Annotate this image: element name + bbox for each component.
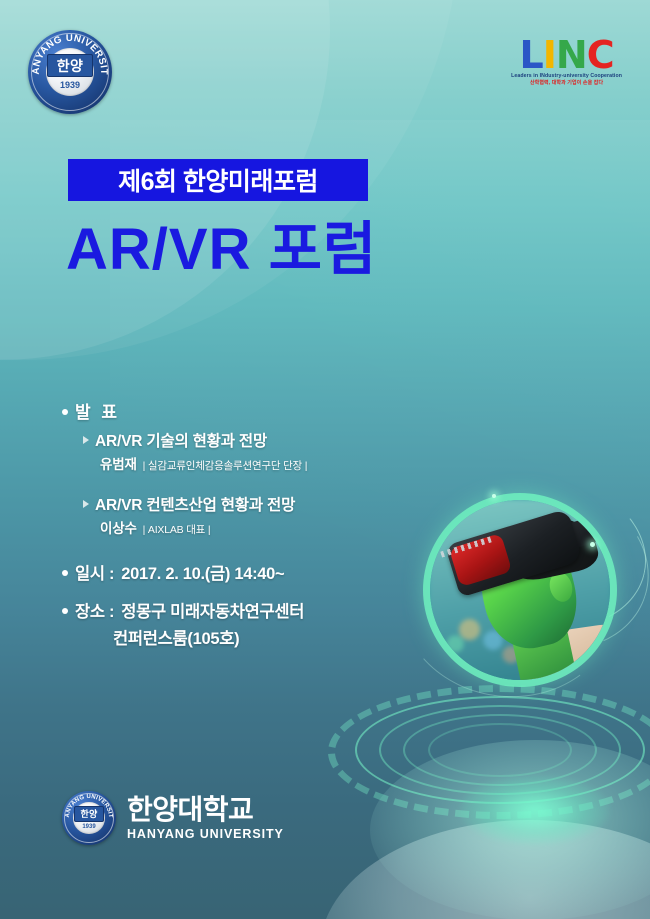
forum-edition-banner: 제6회 한양미래포럼 <box>68 159 368 201</box>
speaker-affiliation: | 실감교류인체감응솔루션연구단 단장 | <box>143 460 308 472</box>
event-datetime-label: 일시 : <box>75 560 114 584</box>
vr-headset-strap <box>538 517 599 557</box>
energy-swoosh-3 <box>391 499 626 708</box>
footer-brand-text: 한양대학교 HANYANG UNIVERSITY <box>127 796 284 841</box>
footer-brand: HANYANG UNIVERSITY 한양 1939 한양대학교 HANYANG… <box>62 791 284 845</box>
event-place-value: 정몽구 미래자동차연구센터 <box>121 598 304 622</box>
triangle-bullet-icon <box>83 500 89 508</box>
talk-speaker-line: 이상수| AIXLAB 대표 | <box>100 517 307 537</box>
event-datetime-value: 2017. 2. 10.(금) 14:40~ <box>121 560 284 584</box>
linc-letters: LINC <box>511 38 622 72</box>
vr-headset-faceplate <box>449 533 512 587</box>
event-place-value-line2: 컨퍼런스룸(105호) <box>113 625 304 649</box>
talk-title: AR/VR 컨텐츠산업 현황과 전망 <box>95 493 295 515</box>
seal-center-text: 한양 <box>74 806 104 822</box>
linc-tagline: Leaders in INdustry-university Cooperati… <box>511 74 622 79</box>
university-seal-icon: HANYANG UNIVERSITY 한양 1939 <box>62 791 116 845</box>
program-heading-label: 발 표 <box>75 398 120 423</box>
energy-spark-1 <box>590 542 595 547</box>
linc-tagline-kr: 산학협력, 대학과 기업이 손을 잡다 <box>511 81 622 86</box>
seal-year: 1939 <box>60 81 80 90</box>
holographic-platform-glow <box>370 740 650 919</box>
seal-center-text: 한양 <box>47 54 93 77</box>
holographic-base-disc <box>320 820 650 919</box>
speaker-affiliation: | AIXLAB 대표 | <box>143 524 211 536</box>
linc-letter-c: C <box>587 38 614 72</box>
talk-item: AR/VR 컨텐츠산업 현황과 전망 이상수| AIXLAB 대표 | <box>83 493 307 537</box>
event-place-row: 장소 : 정몽구 미래자동차연구센터 <box>62 598 304 622</box>
photo-background <box>430 500 610 680</box>
vr-headset-icon <box>445 508 583 597</box>
holographic-ring-1 <box>355 696 645 804</box>
vr-headset-vents <box>440 537 491 558</box>
speaker-name: 이상수 <box>100 521 137 536</box>
bullet-dot-icon <box>62 409 68 415</box>
seal-year: 1939 <box>82 824 95 830</box>
holographic-ring-4 <box>428 723 572 777</box>
footer-brand-name-kr: 한양대학교 <box>127 796 284 824</box>
page-title: AR/VR 포럼 <box>66 218 377 282</box>
seal-inner-disc: 한양 1939 <box>73 802 104 833</box>
university-seal-icon: HANYANG UNIVERSITY 한양 1939 <box>28 30 112 114</box>
energy-swoosh-2 <box>438 460 650 673</box>
linc-letter-i: I <box>543 38 556 72</box>
energy-swoosh-1 <box>431 457 650 648</box>
linc-logo: LINC Leaders in INdustry-university Coop… <box>511 38 622 86</box>
talk-item: AR/VR 기술의 현황과 전망 유범재| 실감교류인체감응솔루션연구단 단장 … <box>83 429 307 473</box>
vr-user-photo <box>430 500 610 680</box>
talk-speaker-line: 유범재| 실감교류인체감응솔루션연구단 단장 | <box>100 453 307 473</box>
holographic-core-glow <box>460 775 610 845</box>
vr-artwork <box>340 500 650 919</box>
person-ear <box>546 570 575 605</box>
linc-letter-n: N <box>556 38 587 72</box>
poster-canvas: HANYANG UNIVERSITY 한양 1939 LINC Leaders … <box>0 0 650 919</box>
person-neck <box>511 623 577 680</box>
footer-brand-name-en: HANYANG UNIVERSITY <box>127 828 284 841</box>
detail-spacer <box>62 584 304 598</box>
energy-spark-2 <box>492 494 496 498</box>
hanyang-seal-top: HANYANG UNIVERSITY 한양 1939 <box>28 30 112 114</box>
program-section: 발 표 AR/VR 기술의 현황과 전망 유범재| 실감교류인체감응솔루션연구단… <box>62 398 307 537</box>
forum-edition-text: 제6회 한양미래포럼 <box>118 162 318 198</box>
event-details-section: 일시 : 2017. 2. 10.(금) 14:40~ 장소 : 정몽구 미래자… <box>62 560 304 649</box>
holographic-dashed-ring-outer <box>328 685 650 819</box>
linc-letter-l: L <box>520 38 543 72</box>
holographic-ring-2 <box>379 705 621 795</box>
bullet-dot-icon <box>62 608 68 614</box>
talk-title: AR/VR 기술의 현황과 전망 <box>95 429 267 451</box>
event-place-label: 장소 : <box>75 598 114 622</box>
event-datetime-row: 일시 : 2017. 2. 10.(금) 14:40~ <box>62 560 304 584</box>
person-head <box>470 521 586 657</box>
talk-title-row: AR/VR 기술의 현황과 전망 <box>83 429 307 451</box>
talk-title-row: AR/VR 컨텐츠산업 현황과 전망 <box>83 493 307 515</box>
triangle-bullet-icon <box>83 436 89 444</box>
person-hair <box>503 509 601 584</box>
program-heading-row: 발 표 <box>62 398 307 423</box>
bullet-dot-icon <box>62 570 68 576</box>
person-shoulder <box>522 621 610 680</box>
talk-spacer <box>62 473 307 487</box>
speaker-name: 유범재 <box>100 457 137 472</box>
holographic-ring-3 <box>403 714 597 786</box>
